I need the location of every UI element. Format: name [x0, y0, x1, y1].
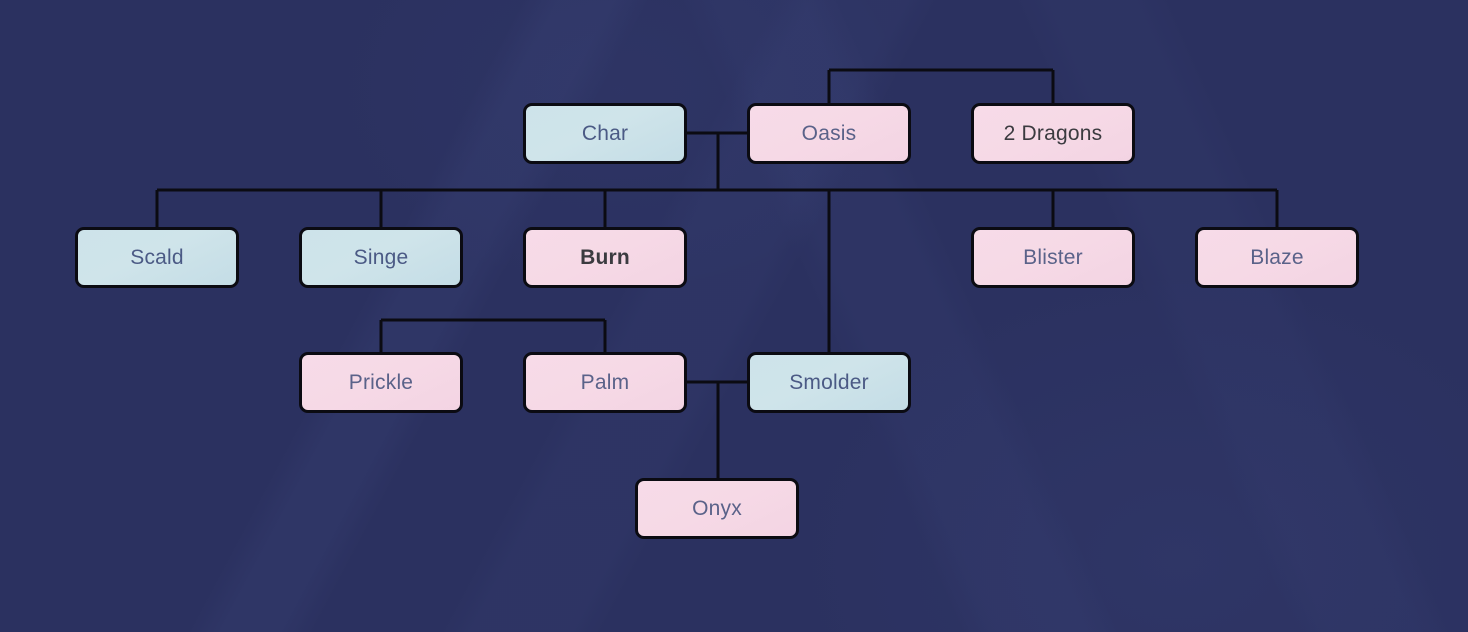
node-label: Oasis	[802, 122, 857, 146]
node-blaze[interactable]: Blaze	[1195, 227, 1359, 288]
node-label: Blister	[1023, 246, 1083, 270]
node-label: Char	[582, 122, 628, 146]
node-label: Singe	[354, 246, 409, 270]
node-label: Palm	[581, 371, 630, 395]
node-prickle[interactable]: Prickle	[299, 352, 463, 413]
node-blister[interactable]: Blister	[971, 227, 1135, 288]
node-burn[interactable]: Burn	[523, 227, 687, 288]
node-label: Blaze	[1250, 246, 1304, 270]
node-smolder[interactable]: Smolder	[747, 352, 911, 413]
node-singe[interactable]: Singe	[299, 227, 463, 288]
node-label: 2 Dragons	[1004, 122, 1103, 146]
node-label: Scald	[130, 246, 184, 270]
node-scald[interactable]: Scald	[75, 227, 239, 288]
node-label: Onyx	[692, 497, 742, 521]
node-palm[interactable]: Palm	[523, 352, 687, 413]
node-onyx[interactable]: Onyx	[635, 478, 799, 539]
node-label: Prickle	[349, 371, 413, 395]
node-label: Smolder	[789, 371, 869, 395]
node-oasis[interactable]: Oasis	[747, 103, 911, 164]
node-char[interactable]: Char	[523, 103, 687, 164]
node-label: Burn	[580, 246, 630, 270]
family-tree-canvas: CharOasis2 DragonsScaldSingeBurnBlisterB…	[0, 0, 1468, 632]
node-2dragons[interactable]: 2 Dragons	[971, 103, 1135, 164]
